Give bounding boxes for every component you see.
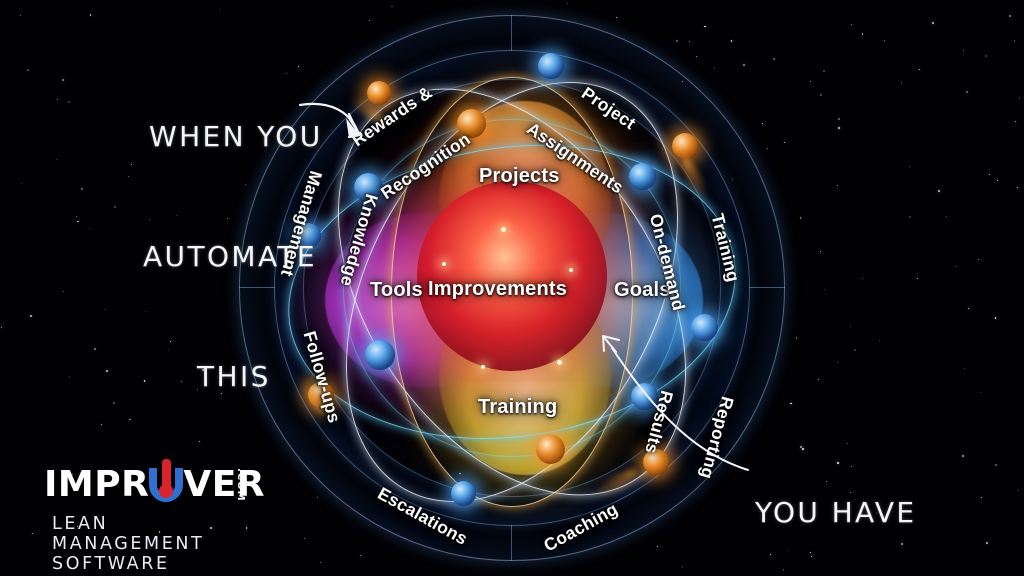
impruver-logo[interactable]: IMPR VER .COM LEAN MANAGEMENT SOFTWARE [44,466,265,504]
star [56,159,57,160]
star [879,340,880,341]
lobe-label-training[interactable]: Training [478,396,557,419]
star [20,15,21,16]
star [128,176,129,177]
star [850,326,851,327]
star [1009,15,1011,17]
logo-text-part1: IMPR [44,464,149,505]
star [131,164,132,165]
star [113,402,115,404]
star [1018,490,1019,491]
star [800,217,801,218]
star [963,50,964,51]
star [790,403,791,404]
star [818,379,819,380]
ring-label-line: Reporting [697,394,738,481]
star [810,81,811,82]
poster-canvas: Improvements Projects Tools Goals Traini… [0,0,1024,576]
annotation-more-time: YOU HAVE MORE TIME FOR THIS [755,413,926,576]
star [94,348,96,350]
annotation-line: AUTOMATE [143,237,323,277]
electron-bottom-amber[interactable] [536,435,565,464]
ring-label-line: Project [557,68,661,147]
ring-label-line: Training [704,197,747,298]
ring-divider-top [511,15,512,51]
star [30,315,32,317]
star [989,174,990,175]
star [89,228,90,229]
logo-wordmark: IMPR VER .COM [44,466,265,504]
annotation-line: WHEN YOU [149,117,323,157]
star [27,69,29,71]
star [391,6,392,7]
star [101,424,102,425]
logo-tagline: LEAN MANAGEMENT SOFTWARE [52,514,265,574]
star [962,455,964,457]
star [77,221,78,222]
star [964,368,965,369]
star [90,14,91,15]
star [796,337,797,338]
star [68,101,70,103]
ring-label-line: Results [639,379,680,466]
star [919,69,920,70]
comet-project-assignments [538,53,564,79]
star [837,185,838,186]
logo-u-mark-icon [149,466,183,504]
star [1,327,2,328]
star [823,70,825,72]
star [567,3,568,4]
star [862,278,863,279]
star [995,464,996,465]
annotation-line: THIS [197,357,323,397]
annotation-line: YOU HAVE [755,493,926,533]
star [62,79,64,81]
ring-label-line: Escalations [374,483,471,549]
star [63,291,64,292]
star [851,24,852,25]
star [909,216,911,218]
star [824,289,825,290]
core-label-improvements[interactable]: Improvements [428,278,567,301]
star [105,309,106,310]
star [1019,97,1020,98]
star [220,9,221,10]
star [980,392,981,393]
star [986,542,988,544]
star [1017,187,1018,188]
star [995,317,996,318]
ring-label-line: Assignments [523,118,627,197]
star [966,91,968,93]
star [320,562,321,563]
star [985,55,987,57]
star [884,40,885,41]
star [106,370,108,372]
star [682,566,683,567]
star [21,183,22,184]
star [114,206,116,208]
star [978,259,979,260]
star [81,188,83,190]
star [917,278,918,279]
star [909,166,910,167]
comet-reporting-results [691,314,718,341]
star [854,349,856,351]
star [997,180,998,181]
star [1015,121,1016,122]
ring-divider-bottom [511,525,512,561]
ring-label-line: Rewards & [343,79,440,153]
star [1014,40,1015,41]
star [145,311,146,312]
star [968,308,969,309]
annotation-automate-this: WHEN YOU AUTOMATE THIS [149,37,323,477]
star [129,419,130,420]
ring-label-line: On-demand [646,212,689,313]
ring-label-line: Knowledge [335,185,384,295]
ring-label-line: Coaching [540,499,621,556]
star [820,251,821,252]
logo-dotcom-suffix: .COM [221,468,259,502]
star [144,380,145,381]
star [76,216,77,217]
star [862,33,863,34]
star [932,22,934,24]
comet-training-ondemand [672,133,698,159]
star [838,127,840,129]
star [69,376,70,377]
star [946,216,947,217]
star [32,533,33,534]
star [938,190,940,192]
star [837,362,838,363]
star [820,94,822,96]
star [901,82,902,83]
star [838,118,840,120]
star [981,497,982,498]
star [57,99,58,100]
star [956,266,957,267]
